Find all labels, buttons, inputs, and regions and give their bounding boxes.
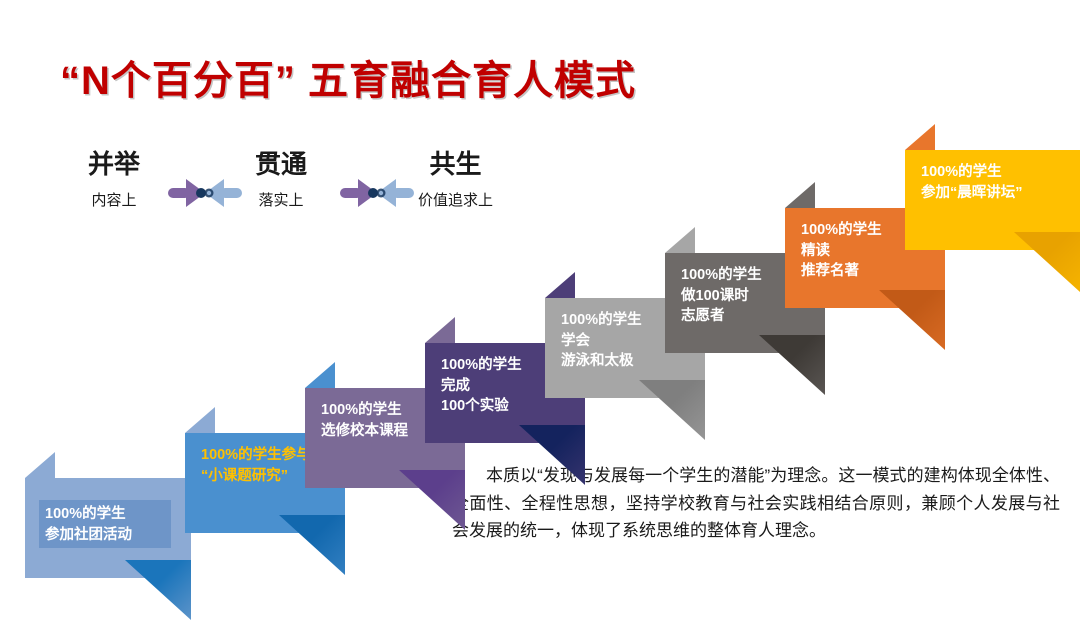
step-notch-triangle-icon: [185, 407, 215, 433]
step-fold-triangle-icon: [1014, 232, 1080, 292]
step-label-line: 志愿者: [681, 306, 825, 327]
step-notch-triangle-icon: [25, 452, 55, 478]
step-label: 100%的学生参加社团活动: [45, 504, 191, 545]
step-fold-triangle-icon: [879, 290, 945, 350]
step-label-line: 推荐名著: [801, 261, 945, 282]
step-label-line: 参加“晨晖讲坛”: [921, 183, 1080, 204]
stair-step[interactable]: 100%的学生参加社团活动: [25, 478, 191, 578]
step-fold-triangle-icon: [759, 335, 825, 395]
step-label-line: 100%的学生: [45, 504, 191, 525]
step-notch-triangle-icon: [425, 317, 455, 343]
step-notch-triangle-icon: [545, 272, 575, 298]
summary-paragraph: 本质以“发现与发展每一个学生的潜能”为理念。这一模式的建构体现全体性、全面性、全…: [452, 462, 1060, 545]
step-label-line: 100%的学生: [921, 162, 1080, 183]
step-notch-triangle-icon: [905, 124, 935, 150]
step-notch-triangle-icon: [665, 227, 695, 253]
step-notch-triangle-icon: [785, 182, 815, 208]
step-notch-triangle-icon: [305, 362, 335, 388]
step-label-line: 游泳和太极: [561, 351, 705, 372]
slide-canvas: “N个百分百” 五育融合育人模式 并举内容上贯通落实上共生价值追求上 100%的…: [0, 0, 1080, 602]
step-label-line: 100个实验: [441, 396, 585, 417]
step-label: 100%的学生参加“晨晖讲坛”: [921, 162, 1080, 203]
stair-step[interactable]: 100%的学生参加“晨晖讲坛”: [905, 150, 1080, 250]
step-label-line: 参加社团活动: [45, 525, 191, 546]
step-fold-triangle-icon: [639, 380, 705, 440]
